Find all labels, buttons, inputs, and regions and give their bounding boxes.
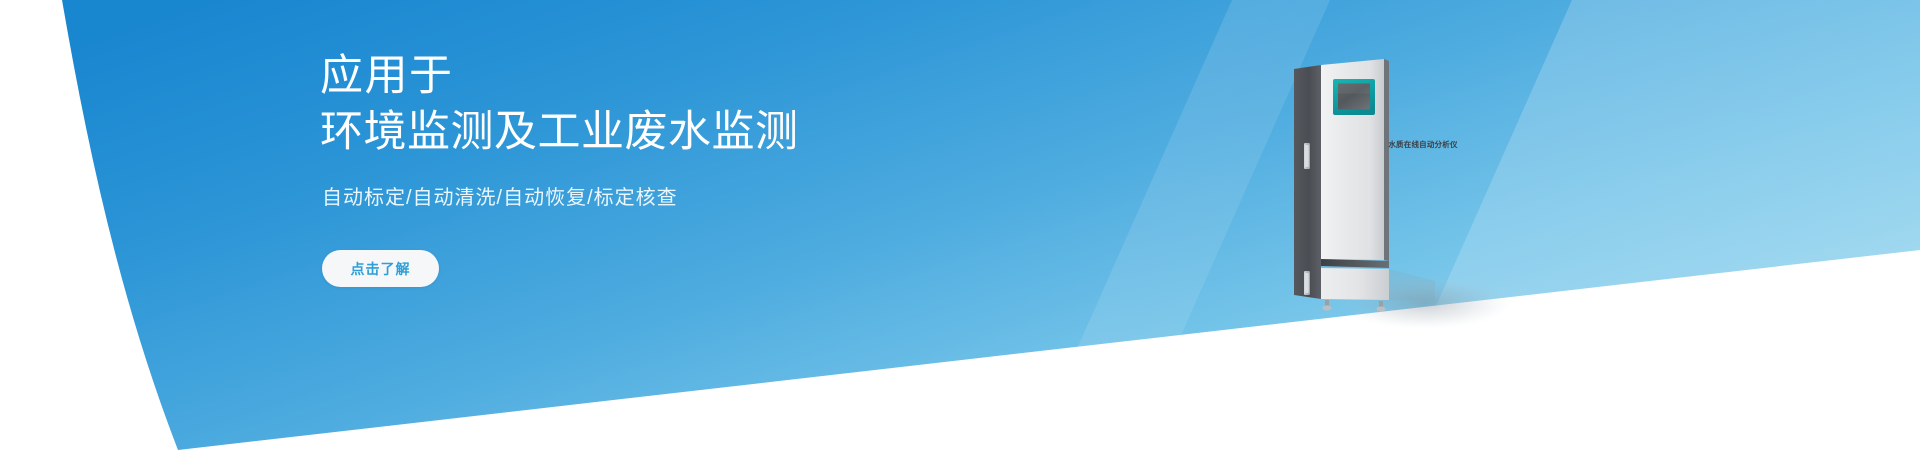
subheadline: 自动标定/自动清洗/自动恢复/标定核查 bbox=[322, 184, 678, 212]
cabinet-side-panel bbox=[1294, 65, 1321, 299]
device-nameplate: 水质在线自动分析仪 bbox=[1383, 139, 1463, 150]
caster-left-wheel bbox=[1322, 305, 1331, 310]
headline: 应用于 环境监测及工业废水监测 bbox=[320, 48, 799, 160]
caster-right-wheel bbox=[1376, 306, 1385, 311]
cabinet-seam bbox=[1321, 259, 1389, 268]
cabinet-lower-front bbox=[1321, 268, 1389, 300]
promo-banner: 应用于 环境监测及工业废水监测 自动标定/自动清洗/自动恢复/标定核查 点击了解 bbox=[0, 0, 1920, 450]
headline-line-2: 环境监测及工业废水监测 bbox=[320, 104, 799, 160]
learn-more-button[interactable]: 点击了解 bbox=[322, 250, 439, 287]
product-image: 水质在线自动分析仪 bbox=[1285, 55, 1545, 355]
cabinet-cast-shadow bbox=[1389, 269, 1435, 301]
cabinet-upper-edge bbox=[1384, 59, 1389, 261]
lower-handle-inlay bbox=[1305, 273, 1309, 293]
headline-line-1: 应用于 bbox=[320, 48, 799, 104]
analyzer-cabinet-illustration bbox=[1285, 55, 1545, 355]
upper-handle-inlay bbox=[1305, 145, 1309, 167]
screen-glare bbox=[1338, 84, 1370, 94]
banner-copy: 应用于 环境监测及工业废水监测 自动标定/自动清洗/自动恢复/标定核查 点击了解 bbox=[320, 0, 1080, 450]
